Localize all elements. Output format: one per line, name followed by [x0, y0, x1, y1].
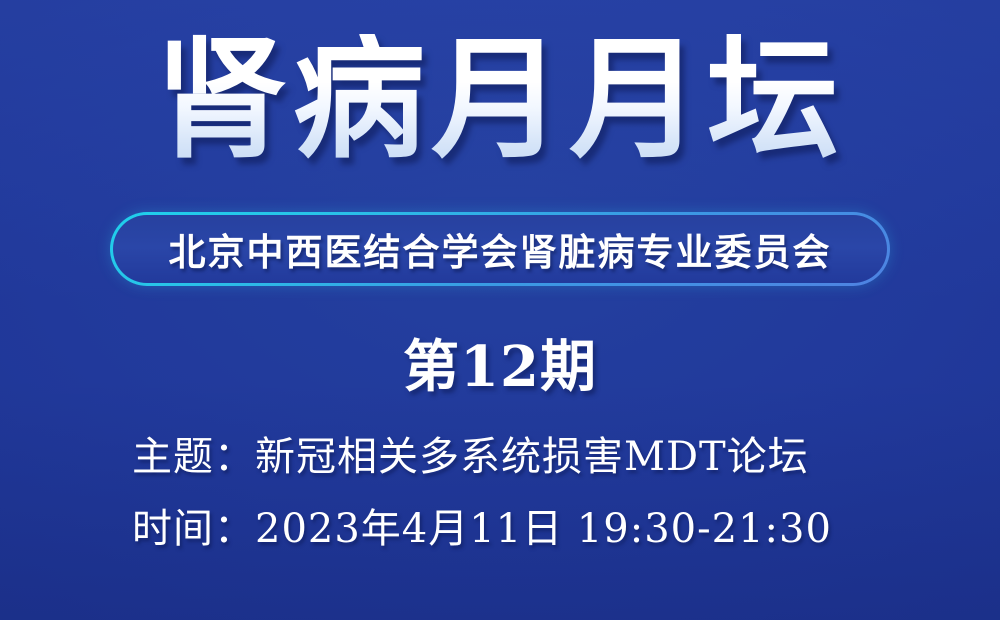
event-details: 主题：新冠相关多系统损害MDT论坛 时间：2023年4月11日 19:30-21…: [132, 424, 892, 554]
organization-pill-inner: 北京中西医结合学会肾脏病专业委员会: [113, 215, 887, 283]
event-time-line: 时间：2023年4月11日 19:30-21:30: [132, 496, 892, 554]
organization-name: 北京中西医结合学会肾脏病专业委员会: [169, 222, 832, 276]
poster-canvas: 肾病月月坛 北京中西医结合学会肾脏病专业委员会 第12期 主题：新冠相关多系统损…: [0, 0, 1000, 620]
event-topic-line: 主题：新冠相关多系统损害MDT论坛: [132, 424, 892, 482]
issue-number: 第12期: [0, 322, 1000, 403]
poster-title-container: 肾病月月坛: [0, 34, 1000, 176]
organization-pill: 北京中西医结合学会肾脏病专业委员会: [110, 212, 890, 286]
poster-title: 肾病月月坛: [151, 34, 849, 176]
